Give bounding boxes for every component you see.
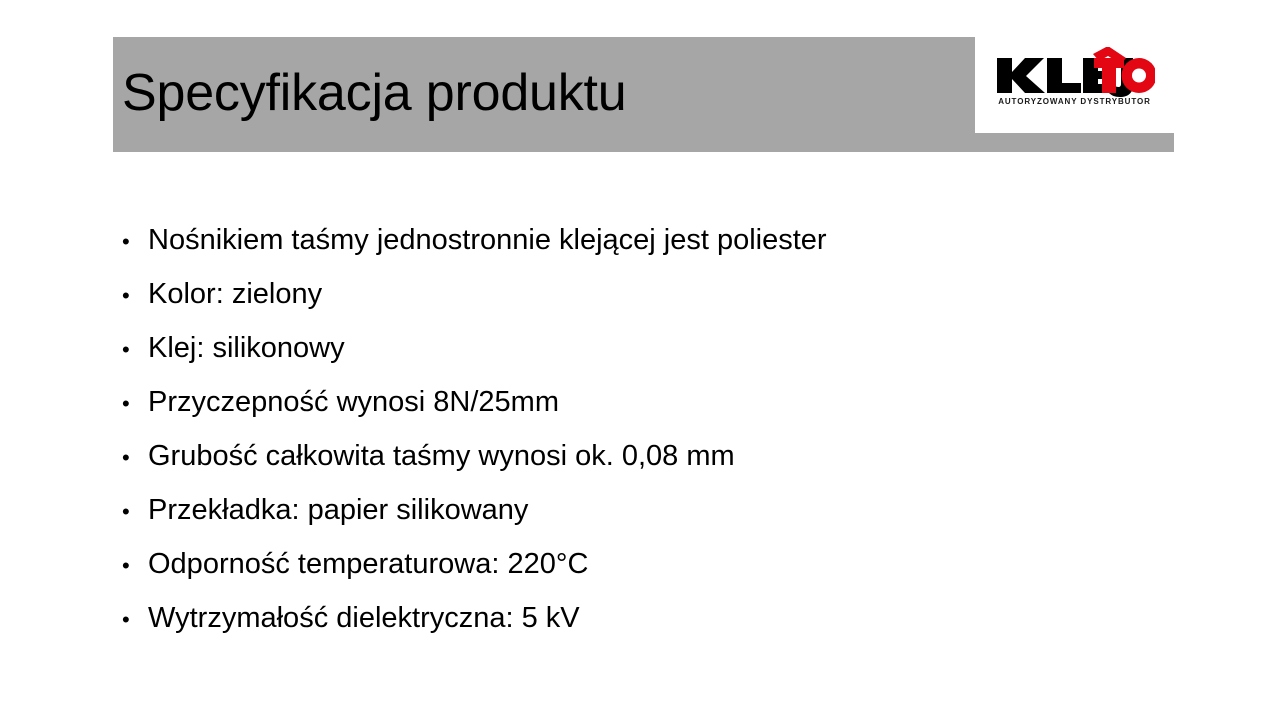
list-item: • Grubość całkowita taśmy wynosi ok. 0,0… [122, 442, 1142, 496]
list-item: • Wytrzymałość dielektryczna: 5 kV [122, 604, 1142, 658]
logo-plate: AUTORYZOWANY DYSTRYBUTOR [975, 25, 1174, 133]
specification-list: • Nośnikiem taśmy jednostronnie klejącej… [122, 226, 1142, 658]
bullet-dot-icon: • [122, 555, 148, 577]
list-item-label: Nośnikiem taśmy jednostronnie klejącej j… [148, 226, 827, 255]
list-item-label: Wytrzymałość dielektryczna: 5 kV [148, 604, 580, 633]
list-item-label: Przyczepność wynosi 8N/25mm [148, 388, 559, 417]
list-item-label: Odporność temperaturowa: 220°C [148, 550, 588, 579]
brand-logo: AUTORYZOWANY DYSTRYBUTOR [975, 25, 1174, 133]
bullet-dot-icon: • [122, 393, 148, 415]
klejto-wordmark-icon [995, 47, 1155, 97]
list-item: • Kolor: zielony [122, 280, 1142, 334]
list-item: • Nośnikiem taśmy jednostronnie klejącej… [122, 226, 1142, 280]
bullet-dot-icon: • [122, 501, 148, 523]
page-title: Specyfikacja produktu [122, 58, 952, 128]
bullet-dot-icon: • [122, 609, 148, 631]
list-item-label: Kolor: zielony [148, 280, 322, 309]
list-item-label: Klej: silikonowy [148, 334, 345, 363]
list-item: • Odporność temperaturowa: 220°C [122, 550, 1142, 604]
slide-canvas: Specyfikacja produktu AUTORYZOWANY [0, 0, 1280, 720]
list-item-label: Przekładka: papier silikowany [148, 496, 528, 525]
bullet-dot-icon: • [122, 285, 148, 307]
list-item: • Przyczepność wynosi 8N/25mm [122, 388, 1142, 442]
bullet-dot-icon: • [122, 231, 148, 253]
bullet-dot-icon: • [122, 339, 148, 361]
bullet-dot-icon: • [122, 447, 148, 469]
list-item: • Przekładka: papier silikowany [122, 496, 1142, 550]
list-item-label: Grubość całkowita taśmy wynosi ok. 0,08 … [148, 442, 735, 471]
list-item: • Klej: silikonowy [122, 334, 1142, 388]
logo-tagline: AUTORYZOWANY DYSTRYBUTOR [975, 97, 1174, 106]
